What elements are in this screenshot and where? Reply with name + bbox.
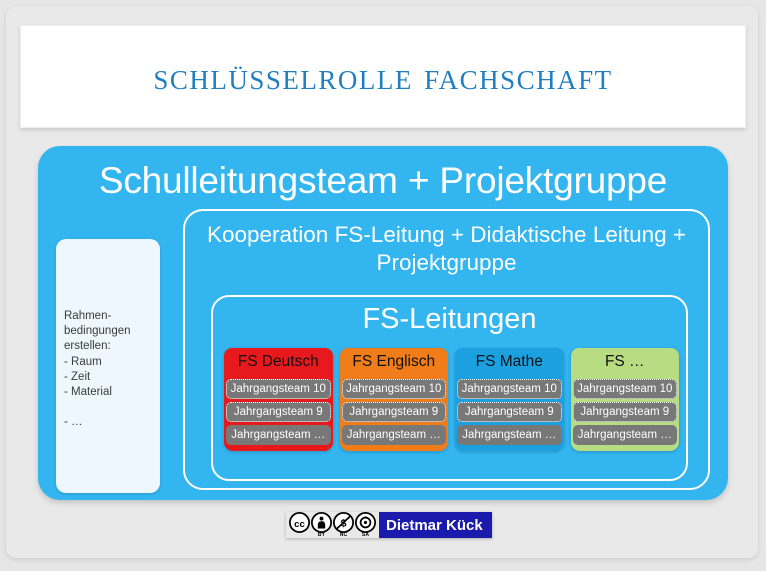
panel-mid-title: Kooperation FS-Leitung + Didaktische Lei… — [195, 221, 698, 277]
team-row[interactable]: Jahrgangsteam … — [573, 425, 678, 445]
license-icon-group: cc BY $ NC — [286, 512, 379, 538]
cc-icon-label — [299, 533, 301, 538]
side-note-rahmenbedingungen: Rahmen- bedingungen erstellen: - Raum - … — [56, 239, 160, 493]
svg-text:cc: cc — [294, 519, 305, 530]
panel-schulleitungsteam: Schulleitungsteam + Projektgruppe Rahmen… — [38, 146, 728, 500]
panel-inner-title: FS-Leitungen — [213, 303, 686, 336]
author-name: Dietmar Kück — [379, 512, 492, 538]
slide-canvas: Schlüsselrolle Fachschaft Schulleitungst… — [0, 0, 766, 571]
panel-outer-title: Schulleitungsteam + Projektgruppe — [38, 160, 728, 202]
side-note-text: Rahmen- bedingungen erstellen: - Raum - … — [64, 309, 155, 430]
noncommercial-crossed-currency-icon: $ NC — [333, 512, 354, 538]
license-badge[interactable]: cc BY $ NC — [286, 512, 492, 538]
panel-fs-leitungen: FS-Leitungen FS Deutsch Jahrgangsteam 10… — [211, 295, 688, 481]
title-card: Schlüsselrolle Fachschaft — [20, 25, 746, 128]
subject-column: FS Deutsch Jahrgangsteam 10 Jahrgangstea… — [224, 348, 333, 451]
team-row[interactable]: Jahrgangsteam 10 — [226, 379, 331, 399]
team-row[interactable]: Jahrgangsteam 9 — [457, 402, 562, 422]
cc-icon: cc — [289, 512, 310, 538]
subject-column: FS … Jahrgangsteam 10 Jahrgangsteam 9 Ja… — [571, 348, 680, 451]
subject-header[interactable]: FS Deutsch — [224, 348, 333, 376]
team-row[interactable]: Jahrgangsteam 10 — [342, 379, 447, 399]
page-title: Schlüsselrolle Fachschaft — [153, 54, 612, 99]
attribution-person-icon: BY — [311, 512, 332, 538]
team-row[interactable]: Jahrgangsteam 9 — [573, 402, 678, 422]
subject-column: FS Mathe Jahrgangsteam 10 Jahrgangsteam … — [455, 348, 564, 451]
subject-column: FS Englisch Jahrgangsteam 10 Jahrgangste… — [340, 348, 449, 451]
license-label-nc: NC — [340, 533, 348, 538]
subject-header[interactable]: FS … — [571, 348, 680, 376]
subject-header[interactable]: FS Mathe — [455, 348, 564, 376]
team-row[interactable]: Jahrgangsteam 9 — [226, 402, 331, 422]
subject-header[interactable]: FS Englisch — [340, 348, 449, 376]
panel-kooperation: Kooperation FS-Leitung + Didaktische Lei… — [183, 209, 710, 490]
license-label-by: BY — [318, 533, 325, 538]
license-label-sa: SA — [362, 533, 369, 538]
team-row[interactable]: Jahrgangsteam 9 — [342, 402, 447, 422]
subject-columns: FS Deutsch Jahrgangsteam 10 Jahrgangstea… — [224, 348, 679, 451]
team-row[interactable]: Jahrgangsteam … — [457, 425, 562, 445]
team-row[interactable]: Jahrgangsteam … — [342, 425, 447, 445]
team-row[interactable]: Jahrgangsteam … — [226, 425, 331, 445]
team-row[interactable]: Jahrgangsteam 10 — [457, 379, 562, 399]
team-row[interactable]: Jahrgangsteam 10 — [573, 379, 678, 399]
sharealike-icon: SA — [355, 512, 376, 538]
